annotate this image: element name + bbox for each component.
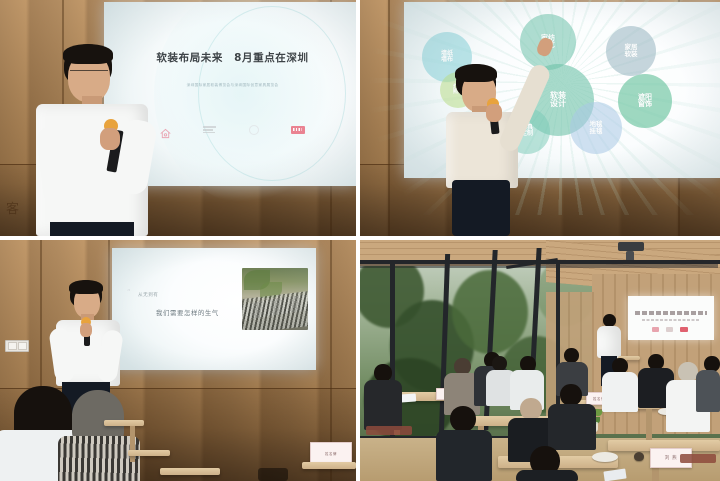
table-leg [646,409,652,441]
attendee-head [564,348,579,363]
notepad [400,393,417,402]
chair-shadow [258,468,288,481]
projection-screen [628,296,714,340]
screen-logo [680,327,688,332]
window-frame [360,264,718,268]
table-leg [130,426,135,462]
screen-logo [652,327,659,332]
low-table [128,450,170,456]
screen-slide-title-line [635,311,707,315]
power-socket-icon [5,340,29,352]
low-table [302,462,356,469]
attendee-head [560,384,582,406]
photo-panel-bottom-right: 姓名牌 姓名牌 姓名牌 姓名牌 刘 燕 [360,240,720,481]
photo-panel-bottom-left: “ 从无到有 我们需要怎样的生气 ” [0,240,356,481]
screen-vignette [112,248,316,370]
name-card-text: 姓名牌 [325,451,337,456]
projection-screen: “ 从无到有 我们需要怎样的生气 ” [112,248,316,370]
attendee-body [364,380,402,430]
speaker-hair-top [455,64,497,82]
photo-panel-top-right: 墙纸 墙布 灯饰 照明 家纺 布艺 家居 软装 软装 设计 遮阳 窗饰 家具 定… [360,0,720,236]
presenter-shirt [597,326,621,358]
name-card: 姓名牌 [310,442,352,464]
attendee-body [696,370,720,412]
speaker-trousers [452,180,510,236]
speaker-hand [100,128,120,150]
screen-logo [666,327,673,332]
plate [592,452,618,462]
floor-cushion [680,454,716,463]
presenter-hand [80,323,92,337]
photo-collage: 客 软装布局未来 8月重点在深圳 深圳国际家居软装博览会与深圳国际创意家具展览会 [0,0,720,481]
teacup [634,452,644,461]
attendee-body [548,404,596,450]
attendee-body [436,430,492,481]
screen-slide-subtitle-line [642,319,701,321]
attendee-body [602,372,638,412]
wall-character: 客 [6,198,19,217]
attendee-head-bald [520,398,542,420]
attendee-head-cap [678,362,698,382]
audience-body-striped [58,436,140,481]
attendee-head [492,356,507,371]
floor-cushion [366,426,412,435]
presenter-hair-top [69,280,103,294]
speaker-trousers [50,222,134,236]
name-card-text: 刘 燕 [665,455,677,461]
low-table [104,420,144,426]
photo-panel-top-left: 客 软装布局未来 8月重点在深圳 深圳国际家居软装博览会与深圳国际创意家具展览会 [0,0,356,236]
attendee-body [516,470,578,481]
ceiling-projector [618,242,644,251]
speaker-hair-top [63,44,113,64]
attendee-head [450,406,476,432]
speaker-hand [486,104,502,122]
eyeglasses-icon [70,70,108,71]
low-table [160,468,220,475]
